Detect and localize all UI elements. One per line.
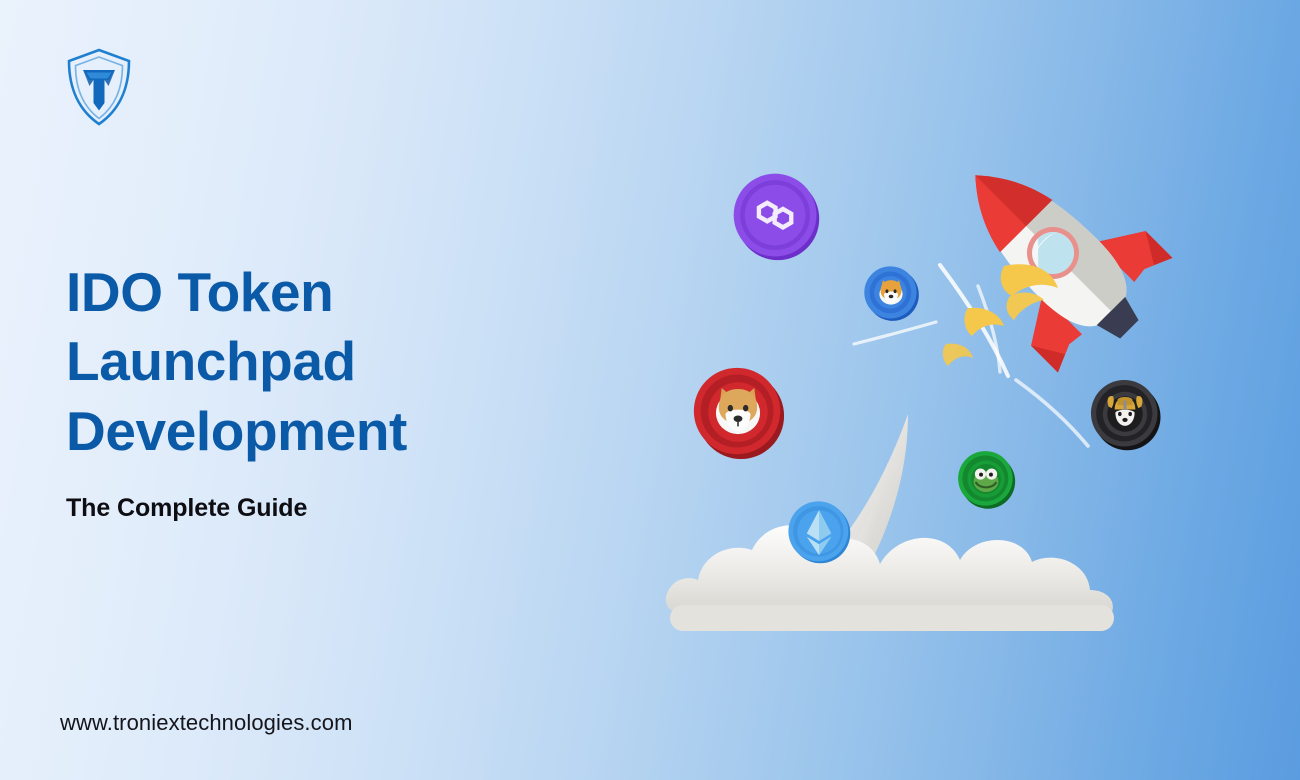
- troniex-shield-t-logo-icon[interactable]: [66, 48, 132, 126]
- website-url[interactable]: www.troniextechnologies.com: [60, 710, 353, 736]
- page-subtitle: The Complete Guide: [66, 494, 307, 523]
- headline-line-2: Launchpad: [66, 327, 586, 396]
- headline-line-1: IDO Token: [66, 258, 586, 327]
- ethereum-coin-icon: [785, 498, 853, 566]
- polygon-matic-coin-icon: [730, 170, 822, 262]
- banner-hero: IDO Token Launchpad Development The Comp…: [0, 0, 1300, 780]
- cloud-smoke-icon: [660, 400, 1130, 640]
- dogecoin-coin-icon: [862, 264, 920, 322]
- headline-line-3: Development: [66, 397, 586, 466]
- hero-illustration: [640, 90, 1240, 650]
- rocket-icon: [940, 120, 1190, 410]
- page-title: IDO Token Launchpad Development: [66, 258, 586, 466]
